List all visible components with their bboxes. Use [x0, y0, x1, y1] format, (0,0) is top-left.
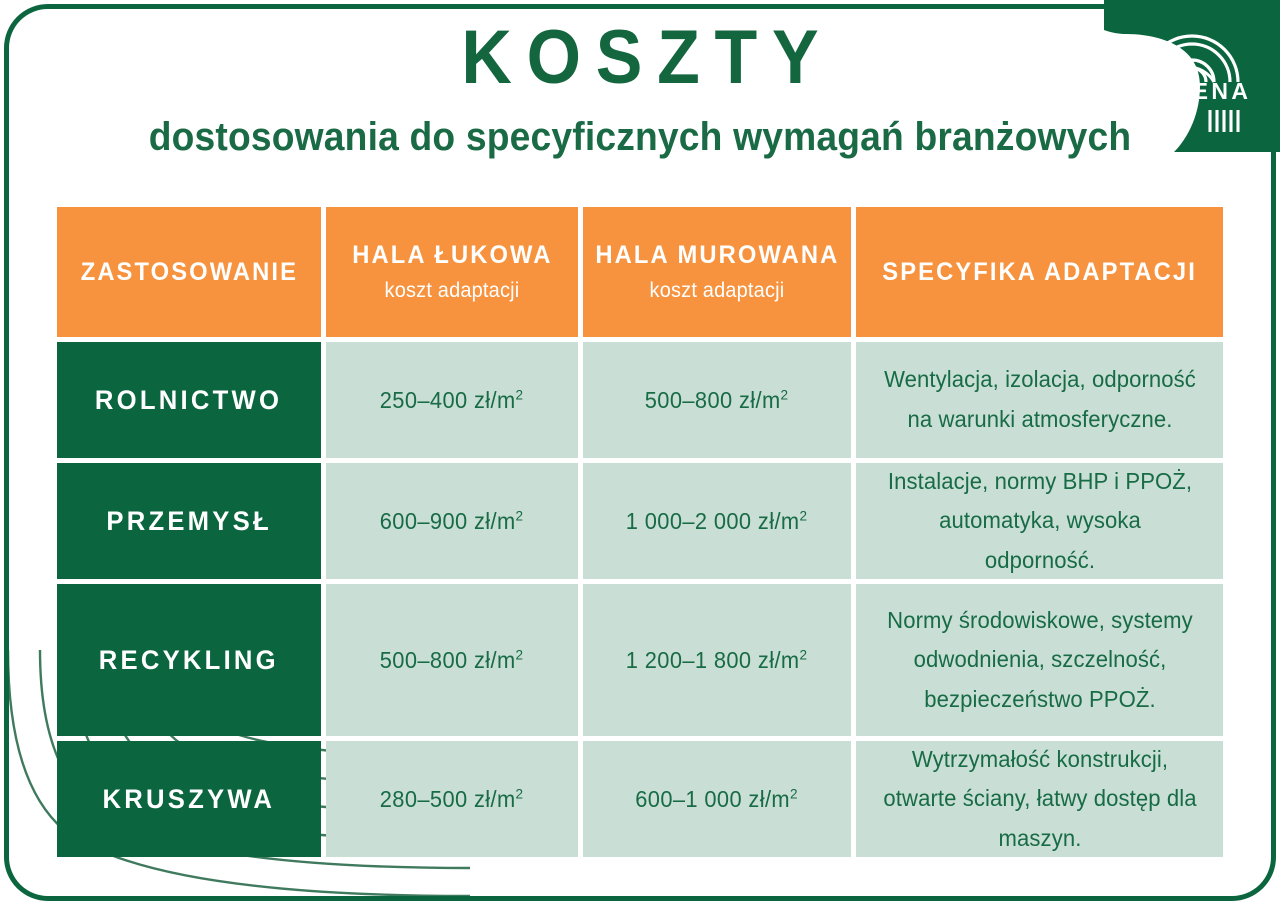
arbena-logo: ARBENA	[1104, 0, 1280, 152]
row-specifics-cell: Normy środowiskowe, systemy odwodnienia,…	[856, 584, 1223, 736]
row-arch-cost-value: 250–400 zł/m2	[380, 387, 524, 414]
page-title: KOSZTY	[51, 18, 1229, 99]
row-brick-cost-cell: 500–800 zł/m2	[583, 342, 851, 458]
column-header-brick-hall-label: HALA MUROWANA	[595, 241, 839, 270]
column-header-arch-hall-label: HALA ŁUKOWA	[352, 241, 552, 270]
table-row: PRZEMYSŁ600–900 zł/m21 000–2 000 zł/m2In…	[57, 463, 1223, 579]
row-specifics-cell: Instalacje, normy BHP i PPOŻ, automatyka…	[856, 463, 1223, 579]
table-header-row: ZASTOSOWANIE HALA ŁUKOWA koszt adaptacji…	[57, 207, 1223, 337]
cost-table: ZASTOSOWANIE HALA ŁUKOWA koszt adaptacji…	[57, 207, 1223, 857]
table-row: ROLNICTWO250–400 zł/m2500–800 zł/m2Wenty…	[57, 342, 1223, 458]
row-brick-cost-value: 500–800 zł/m2	[645, 387, 789, 414]
row-specifics-text: Wentylacja, izolacja, odporność na warun…	[881, 360, 1198, 439]
column-header-brick-hall-sublabel: koszt adaptacji	[650, 279, 785, 303]
row-specifics-cell: Wytrzymałość konstrukcji, otwarte ściany…	[856, 741, 1223, 857]
row-application-label: KRUSZYWA	[103, 784, 276, 815]
row-arch-cost-value: 600–900 zł/m2	[380, 508, 524, 535]
row-application-label: ROLNICTWO	[95, 385, 282, 416]
row-application-label: RECYKLING	[99, 645, 279, 676]
row-specifics-text: Wytrzymałość konstrukcji, otwarte ściany…	[881, 740, 1198, 859]
column-header-arch-hall: HALA ŁUKOWA koszt adaptacji	[326, 207, 578, 337]
row-arch-cost-cell: 250–400 zł/m2	[326, 342, 578, 458]
row-application-label: PRZEMYSŁ	[106, 506, 272, 537]
row-application-cell: KRUSZYWA	[57, 741, 321, 857]
row-application-cell: RECYKLING	[57, 584, 321, 736]
column-header-arch-hall-sublabel: koszt adaptacji	[385, 279, 520, 303]
row-arch-cost-cell: 280–500 zł/m2	[326, 741, 578, 857]
row-brick-cost-value: 1 200–1 800 zł/m2	[626, 647, 808, 674]
row-application-cell: PRZEMYSŁ	[57, 463, 321, 579]
row-arch-cost-value: 500–800 zł/m2	[380, 647, 524, 674]
row-specifics-cell: Wentylacja, izolacja, odporność na warun…	[856, 342, 1223, 458]
row-brick-cost-cell: 1 200–1 800 zł/m2	[583, 584, 851, 736]
row-application-cell: ROLNICTWO	[57, 342, 321, 458]
column-header-application: ZASTOSOWANIE	[57, 207, 321, 337]
page-subtitle: dostosowania do specyficznych wymagań br…	[45, 115, 1235, 160]
row-brick-cost-cell: 600–1 000 zł/m2	[583, 741, 851, 857]
poster: ARBENA KOSZTY dostosowania do specyficzn…	[0, 0, 1280, 905]
row-arch-cost-cell: 600–900 zł/m2	[326, 463, 578, 579]
row-brick-cost-cell: 1 000–2 000 zł/m2	[583, 463, 851, 579]
row-arch-cost-cell: 500–800 zł/m2	[326, 584, 578, 736]
table-row: RECYKLING500–800 zł/m21 200–1 800 zł/m2N…	[57, 584, 1223, 736]
row-brick-cost-value: 1 000–2 000 zł/m2	[626, 508, 808, 535]
column-header-specifics-label: SPECYFIKA ADAPTACJI	[882, 258, 1197, 287]
row-brick-cost-value: 600–1 000 zł/m2	[636, 786, 799, 813]
row-specifics-text: Normy środowiskowe, systemy odwodnienia,…	[881, 601, 1198, 720]
column-header-application-label: ZASTOSOWANIE	[80, 258, 297, 287]
title-block: KOSZTY dostosowania do specyficznych wym…	[0, 18, 1280, 160]
column-header-brick-hall: HALA MUROWANA koszt adaptacji	[583, 207, 851, 337]
column-header-specifics: SPECYFIKA ADAPTACJI	[856, 207, 1223, 337]
row-arch-cost-value: 280–500 zł/m2	[380, 786, 524, 813]
arbena-logo-text: ARBENA	[1133, 78, 1252, 104]
row-specifics-text: Instalacje, normy BHP i PPOŻ, automatyka…	[881, 462, 1198, 581]
table-body: ROLNICTWO250–400 zł/m2500–800 zł/m2Wenty…	[57, 342, 1223, 857]
table-row: KRUSZYWA280–500 zł/m2600–1 000 zł/m2Wytr…	[57, 741, 1223, 857]
